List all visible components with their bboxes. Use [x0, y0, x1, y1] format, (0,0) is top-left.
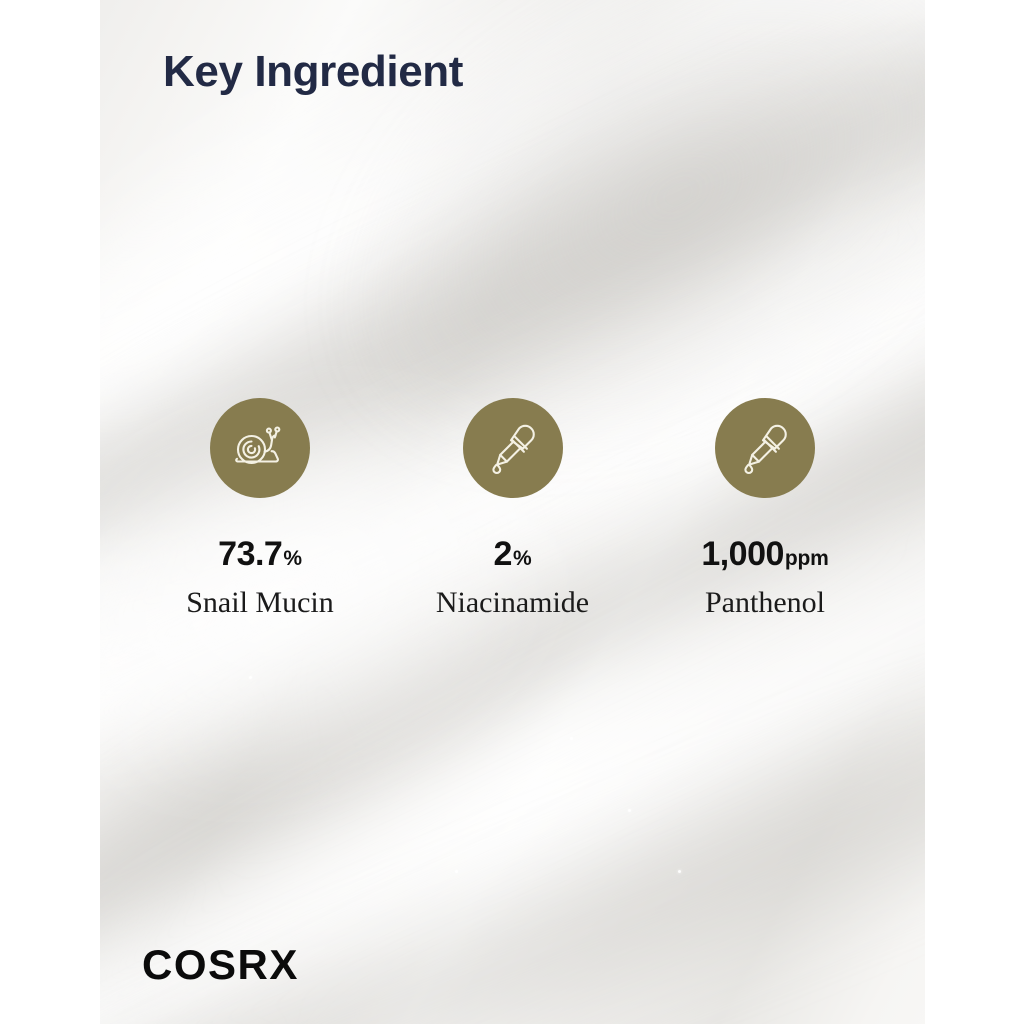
ingredient-name: Snail Mucin	[186, 588, 334, 618]
key-ingredient-poster: Key Ingredient	[0, 0, 1024, 1024]
ingredient-amount-number: 1,000	[701, 537, 784, 571]
ingredient-item-panthenol: 1,000ppm Panthenol	[650, 398, 880, 618]
ingredient-amount-unit: ppm	[785, 548, 829, 569]
ingredient-item-niacinamide: 2% Niacinamide	[398, 398, 628, 618]
dropper-icon	[736, 419, 794, 477]
dropper-icon-badge	[715, 398, 815, 498]
ingredient-amount-number: 2	[494, 537, 512, 571]
ingredient-amount: 73.7%	[218, 537, 302, 571]
ingredient-item-snail-mucin: 73.7% Snail Mucin	[145, 398, 375, 618]
dropper-icon-badge	[463, 398, 563, 498]
ingredient-name: Niacinamide	[436, 588, 589, 618]
snail-icon-badge	[210, 398, 310, 498]
ingredient-amount: 2%	[494, 537, 532, 571]
ingredient-amount-unit: %	[283, 548, 301, 569]
cream-sparkle	[628, 809, 631, 812]
ingredient-amount: 1,000ppm	[701, 537, 828, 571]
ingredient-amount-unit: %	[513, 548, 531, 569]
ingredient-list: 73.7% Snail Mucin	[100, 398, 925, 618]
cream-sparkle	[249, 676, 252, 679]
dropper-icon	[484, 419, 542, 477]
ingredient-amount-number: 73.7	[218, 537, 282, 571]
page-title: Key Ingredient	[163, 47, 463, 97]
snail-icon	[230, 420, 290, 476]
brand-logo: COSRX	[142, 944, 299, 986]
ingredient-name: Panthenol	[705, 588, 825, 618]
